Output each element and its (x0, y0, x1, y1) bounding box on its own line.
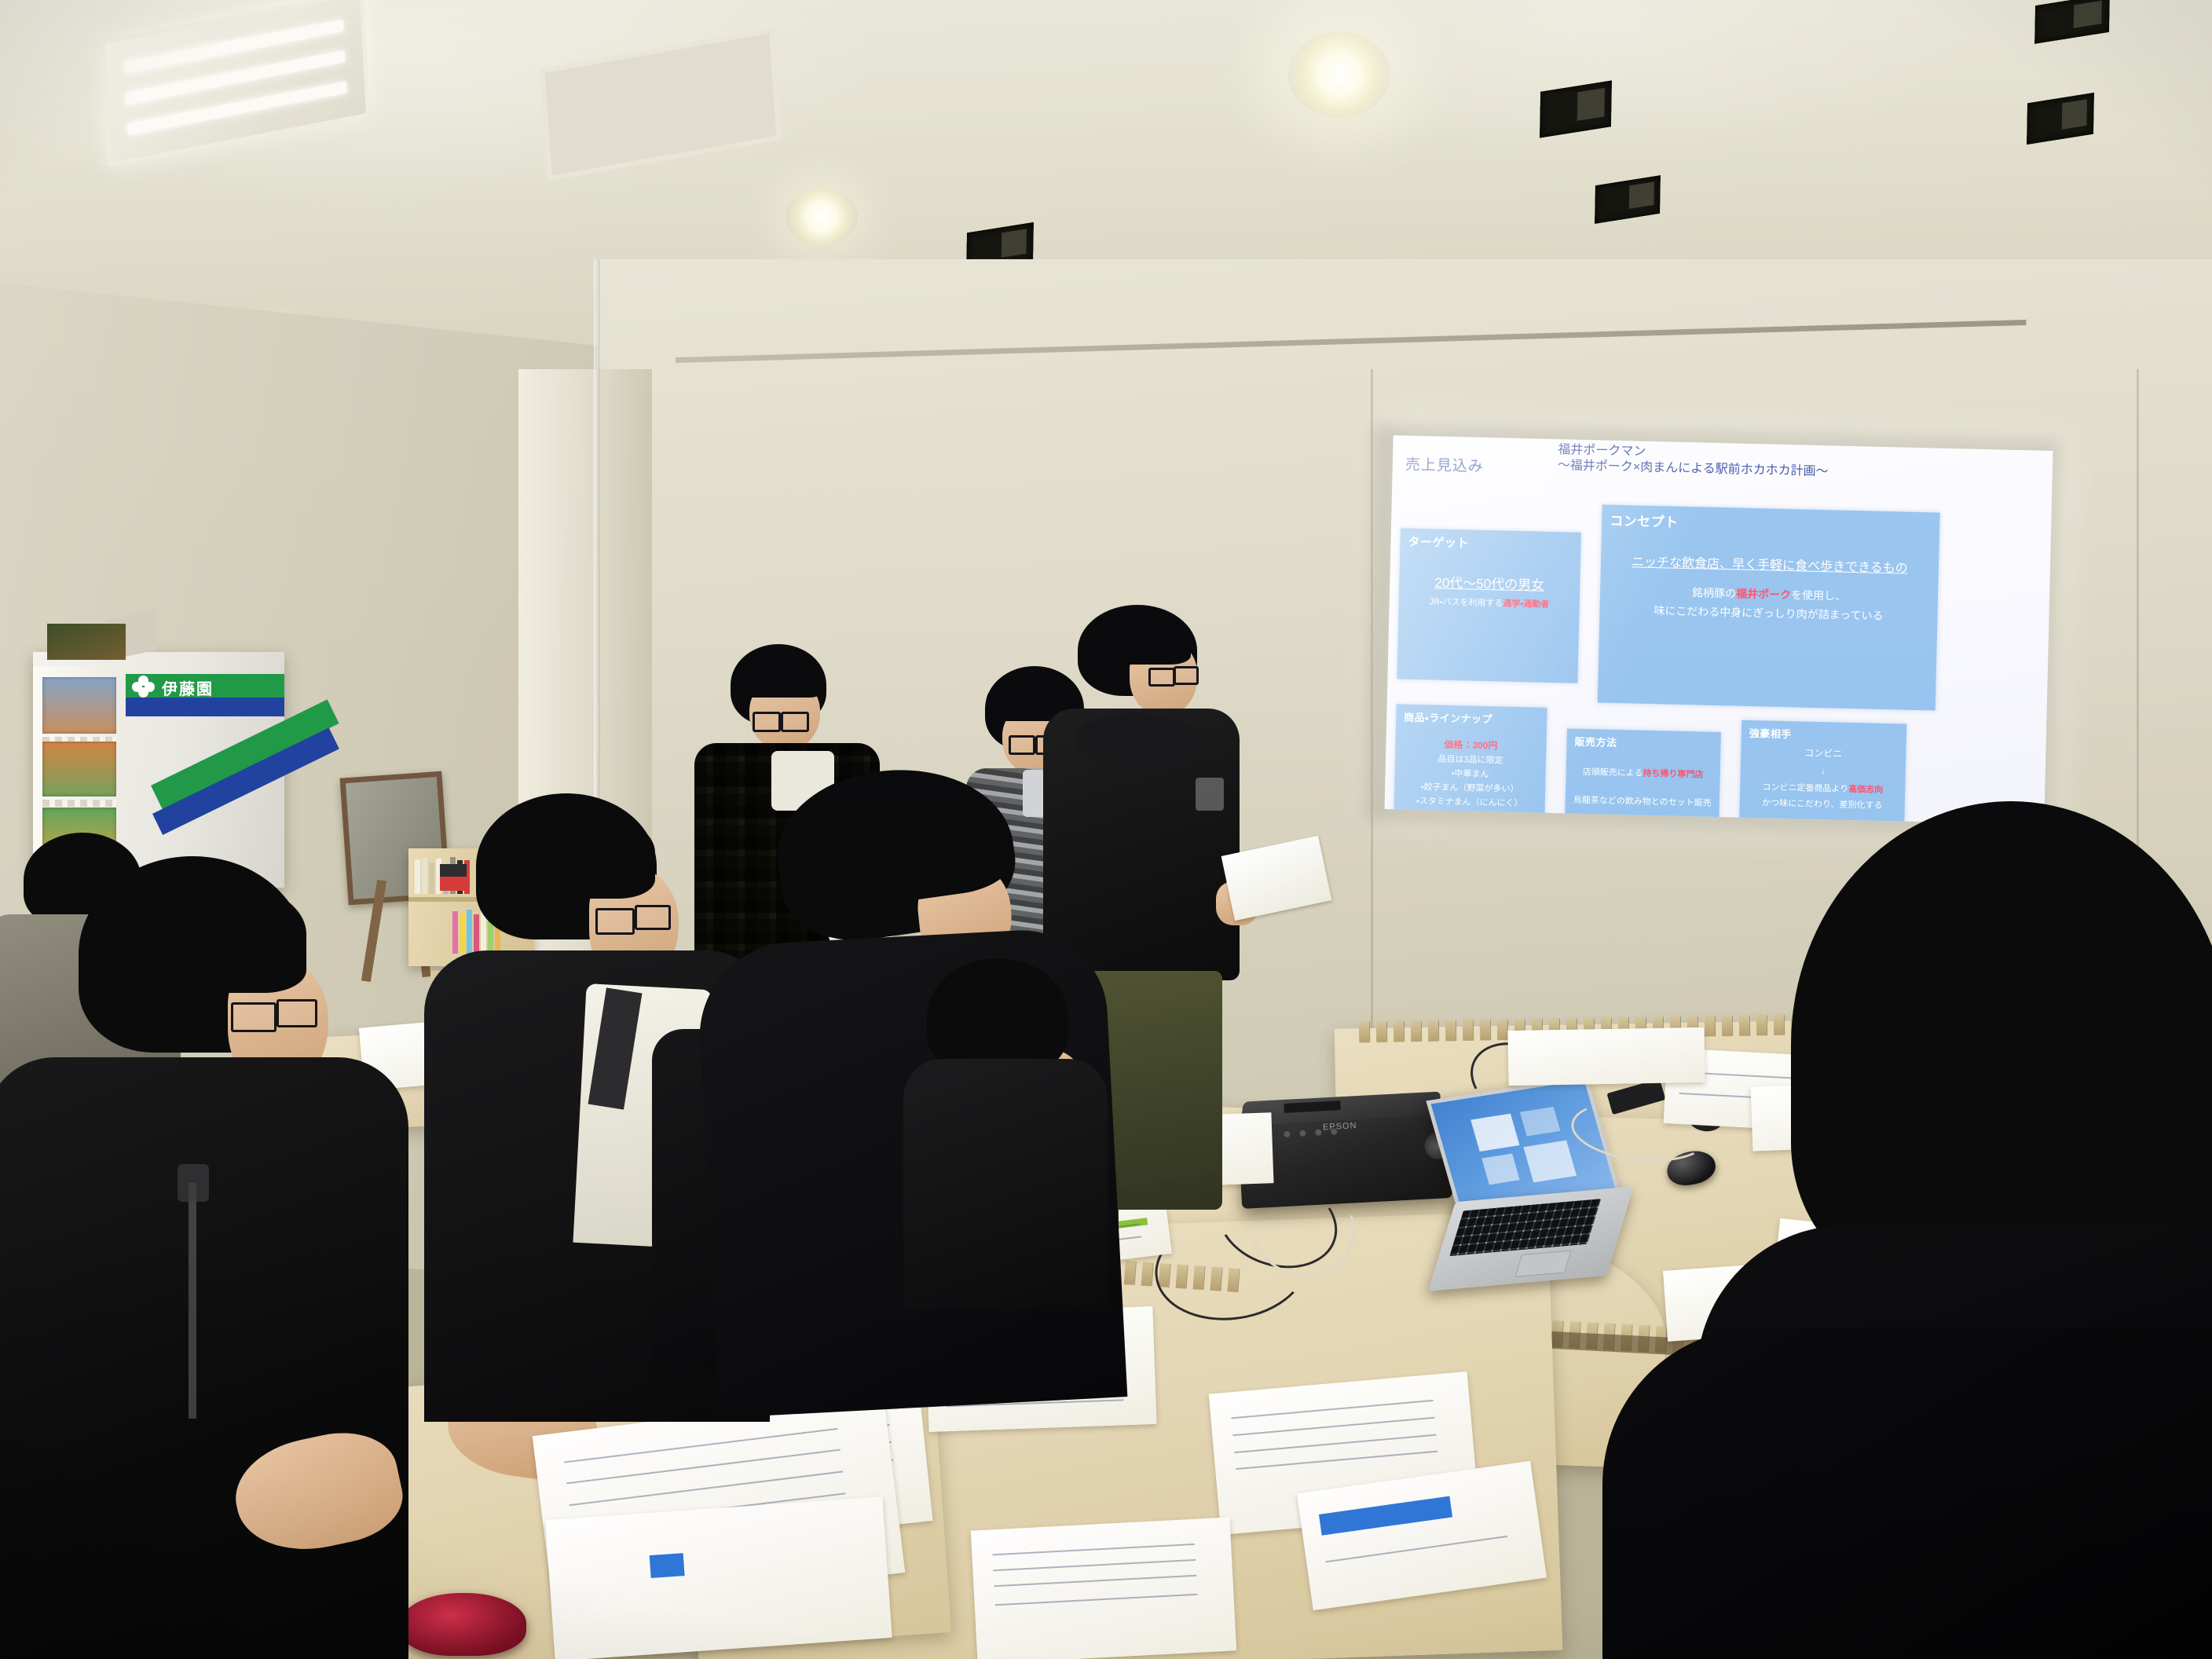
box-line: かつ味にこだわり、差別化する (1740, 797, 1905, 813)
shelf-canister (440, 864, 467, 891)
box-line-highlight: 通学・通勤者 (1503, 599, 1549, 610)
projector-button[interactable] (1315, 1130, 1321, 1136)
box-line-text: 銘柄豚の (1692, 586, 1736, 599)
box-heading: コンセプト (1610, 510, 1679, 531)
slide-box-sales-method: 販売方法 店頭販売による持ち帰り専門店 烏龍茶などの飲み物とのセット販売 (1565, 728, 1721, 824)
ceiling-downlight (786, 189, 858, 245)
handout-paper[interactable] (1507, 1027, 1705, 1086)
hair-fringe (734, 657, 822, 698)
shoulder-foreground-right (1602, 1328, 2212, 1659)
projection-screen: 売上見込み 福井ポークマン ～福井ポーク×肉まんによる駅前ホカホカ計画～ ターゲ… (1385, 435, 2053, 825)
laptop-trackpad[interactable] (1514, 1251, 1572, 1277)
slide-title: 福井ポークマン ～福井ポーク×肉まんによる駅前ホカホカ計画～ (1558, 442, 1829, 480)
hair-fringe (1081, 614, 1191, 665)
slide-box-concept: コンセプト ニッチな飲食店、早く手軽に食べ歩きできるもの 銘柄豚の福井ポークを使… (1598, 504, 1940, 710)
box-line: 品目は3品に限定 (1395, 753, 1546, 767)
torso-black-hoodie (0, 1057, 408, 1659)
box-line: 価格：300円 (1395, 737, 1546, 753)
box-line: 味にこだわる中身にぎっしり肉が詰まっている (1599, 602, 1937, 624)
laptop-keyboard-base[interactable] (1428, 1186, 1634, 1291)
projector-button[interactable] (1299, 1130, 1306, 1137)
box-line: JR・バスを利用する通学・通勤者 (1399, 595, 1580, 611)
hood (1075, 713, 1199, 767)
slide-header: 売上見込み (1405, 453, 1485, 476)
hair (1791, 801, 2212, 1288)
box-line-text-after: を使用し、 (1791, 588, 1846, 602)
box-line-highlight: 福井ポーク (1736, 588, 1791, 602)
slide-box-rivals: 強豪相手 コンビニ ↓ コンビニ定番商品より高価志向 かつ味にこだわり、差別化す… (1739, 720, 1906, 825)
box-line: 店頭販売による持ち帰り専門店 (1566, 766, 1720, 781)
red-pouch[interactable] (401, 1593, 526, 1656)
box-line-highlight: 持ち帰り専門店 (1643, 769, 1703, 780)
vending-machine-top-poster (47, 624, 126, 660)
box-line-text: コンビニ定番商品より (1762, 782, 1848, 794)
box-line-text: 店頭販売による (1583, 767, 1643, 778)
presentation-slide: 売上見込み 福井ポークマン ～福井ポーク×肉まんによる駅前ホカホカ計画～ ターゲ… (1385, 435, 2053, 825)
box-line: コンビニ定番商品より高価志向 (1740, 782, 1905, 797)
held-handout-paper-under[interactable] (545, 1496, 892, 1659)
box-line: ・餃子まん（野菜が多い） (1394, 781, 1545, 796)
ceiling-downlight (1288, 31, 1390, 118)
hoodie-print (1196, 778, 1224, 811)
box-line-highlight: 高価志向 (1848, 785, 1883, 795)
box-heading: ターゲット (1408, 533, 1469, 551)
torso-dark-top (903, 1059, 1108, 1310)
box-line: 20代～50代の男女 (1399, 573, 1580, 595)
hoodie-zipper (189, 1183, 196, 1419)
hair-fringe (86, 875, 306, 993)
hair-fringe (481, 808, 655, 899)
vending-machine-display-window (42, 742, 116, 797)
vending-machine-buttons[interactable] (42, 800, 116, 807)
box-heading: 商品・ラインナップ (1404, 709, 1492, 727)
slide-box-target: ターゲット 20代～50代の男女 JR・バスを利用する通学・通勤者 (1397, 528, 1580, 683)
box-heading: 強豪相手 (1749, 725, 1792, 741)
box-line-text: JR・バスを利用する (1429, 597, 1503, 608)
box-line: ニッチな飲食店、早く手軽に食べ歩きできるもの (1601, 553, 1939, 578)
projector-brand-label: EPSON (1323, 1121, 1357, 1132)
box-line: 烏龍茶などの飲み物とのセット販売 (1566, 794, 1719, 809)
slide-box-lineup: 商品・ラインナップ 価格：300円 品目は3品に限定 ・中華まん ・餃子まん（野… (1393, 704, 1547, 824)
projector-button[interactable] (1284, 1131, 1290, 1137)
zipper-pull (178, 1164, 209, 1202)
box-heading: 販売方法 (1574, 734, 1617, 749)
laptop-keyboard[interactable] (1449, 1199, 1601, 1256)
handout-paper[interactable] (971, 1517, 1236, 1659)
vending-machine-blue-band (126, 698, 284, 716)
vending-machine-brand-label: 伊藤園 (162, 676, 214, 699)
itoen-logo-icon (132, 676, 156, 698)
box-line: ・中華まん (1394, 767, 1545, 782)
laptop-screen-tile (1470, 1114, 1519, 1152)
box-line: コンビニ (1741, 745, 1906, 762)
photo-scene: 売上見込み 福井ポークマン ～福井ポーク×肉まんによる駅前ホカホカ計画～ ターゲ… (0, 0, 2212, 1659)
vending-machine-display-window (42, 677, 116, 734)
box-line: ・スタミナまん（にんにく） (1394, 795, 1545, 810)
box-line: ↓ (1741, 763, 1906, 779)
